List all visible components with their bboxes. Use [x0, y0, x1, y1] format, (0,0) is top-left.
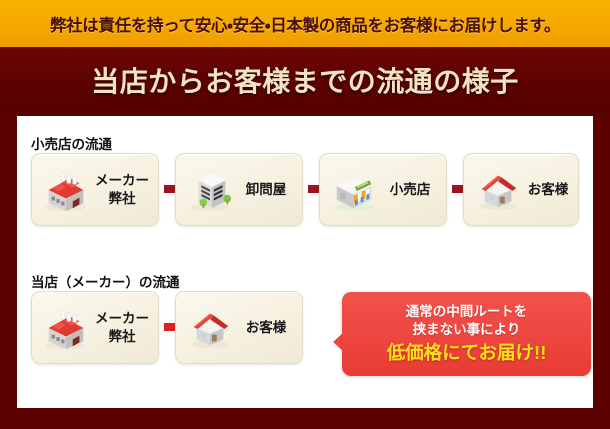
callout-line-2: 挟まない事により — [413, 321, 521, 339]
callout-line-1: 通常の中間ルートを — [406, 303, 528, 321]
callout-line-3: 低価格にてお届け!! — [387, 341, 547, 365]
flow-card-customer-direct: お客様 — [175, 291, 303, 364]
flow-card-wholesaler: 卸問屋 — [175, 153, 303, 226]
flow-card-label: メーカー 弊社 — [92, 310, 158, 345]
title-bar: 当店からお客様までの流通の様子 — [0, 47, 610, 113]
flow-card-label: お客様 — [236, 319, 302, 336]
flow-card-label: 小売店 — [380, 181, 446, 198]
house-icon — [472, 166, 524, 214]
callout-bubble: 通常の中間ルートを 挟まない事により 低価格にてお届け!! — [342, 292, 591, 376]
flow-card-label: メーカー 弊社 — [92, 172, 158, 207]
flow-card-maker-retail: メーカー 弊社 — [31, 153, 159, 226]
page-title: 当店からお客様までの流通の様子 — [91, 60, 519, 100]
section-label-direct: 当店（メーカー）の流通 — [31, 271, 180, 291]
factory-icon — [40, 304, 92, 352]
house-icon — [184, 304, 236, 352]
promo-graphic: 弊社は責任を持って安心・安全・日本製の商品をお客様にお届けします。 当店からお客… — [0, 0, 610, 429]
price-callout: 通常の中間ルートを 挟まない事により 低価格にてお届け!! — [333, 292, 591, 376]
office-building-icon — [184, 166, 236, 214]
factory-icon — [40, 166, 92, 214]
flow-card-customer-retail: お客様 — [463, 153, 579, 226]
flow-card-label: お客様 — [524, 181, 578, 198]
flow-card-label: 卸問屋 — [236, 181, 302, 198]
flow-card-maker-direct: メーカー 弊社 — [31, 291, 159, 364]
retail-shop-icon — [328, 166, 380, 214]
section-label-retail: 小売店の流通 — [31, 133, 112, 153]
top-banner: 弊社は責任を持って安心・安全・日本製の商品をお客様にお届けします。 — [0, 0, 610, 47]
flow-card-retail-shop: 小売店 — [319, 153, 447, 226]
banner-text: 弊社は責任を持って安心・安全・日本製の商品をお客様にお届けします。 — [50, 12, 560, 36]
